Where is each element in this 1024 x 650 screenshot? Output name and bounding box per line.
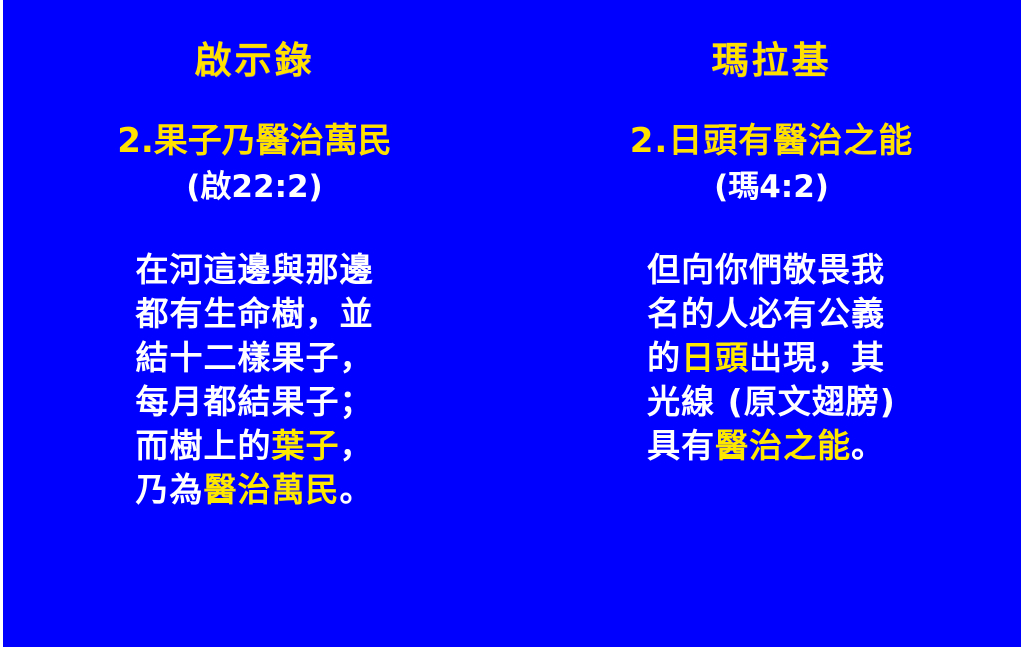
body-line: 乃為醫治萬民。 [136, 468, 374, 512]
body-text-run: 每月都結果子； [136, 382, 374, 421]
highlighted-phrase: 日頭 [681, 338, 749, 377]
body-line: 在河這邊與那邊 [136, 248, 374, 292]
two-column-layout: 啟示錄 2.果子乃醫治萬民 (啟22:2) 在河這邊與那邊都有生命樹，並結十二樣… [3, 0, 1021, 647]
scripture-reference-left: (啟22:2) [186, 170, 322, 204]
highlighted-phrase: 醫治之能 [715, 426, 851, 465]
highlighted-phrase: 葉子 [272, 426, 340, 465]
scripture-body-left: 在河這邊與那邊都有生命樹，並結十二樣果子，每月都結果子；而樹上的葉子，乃為醫治萬… [136, 248, 374, 512]
body-text-run: 出現，其 [749, 338, 885, 377]
scripture-body-right: 但向你們敬畏我名的人必有公義的日頭出現，其光線 (原文翅膀)具有醫治之能。 [647, 248, 896, 468]
point-heading-left: 2.果子乃醫治萬民 [117, 123, 392, 160]
body-line: 都有生命樹，並 [136, 292, 374, 336]
body-text-run: 但向你們敬畏我 [647, 250, 885, 289]
body-text-run: 乃為 [136, 470, 204, 509]
column-malachi: 瑪拉基 2.日頭有醫治之能 (瑪4:2) 但向你們敬畏我名的人必有公義的日頭出現… [512, 0, 1021, 468]
body-line: 具有醫治之能。 [647, 424, 885, 468]
point-heading-right: 2.日頭有醫治之能 [630, 123, 914, 160]
body-line: 而樹上的葉子， [136, 424, 374, 468]
body-text-run: 而樹上的 [136, 426, 272, 465]
body-text-run: 結十二樣果子， [136, 338, 374, 377]
body-text-run: 光線 (原文翅膀) [647, 382, 896, 421]
body-line: 光線 (原文翅膀) [647, 380, 896, 424]
body-line: 每月都結果子； [136, 380, 374, 424]
body-text-run: 具有 [647, 426, 715, 465]
body-text-run: 名的人必有公義 [647, 294, 885, 333]
scripture-reference-right: (瑪4:2) [714, 170, 829, 204]
body-line: 但向你們敬畏我 [647, 248, 885, 292]
highlighted-phrase: 醫治萬民 [204, 470, 340, 509]
body-text-run: 在河這邊與那邊 [136, 250, 374, 289]
body-text-run: 的 [647, 338, 681, 377]
slide-canvas: 啟示錄 2.果子乃醫治萬民 (啟22:2) 在河這邊與那邊都有生命樹，並結十二樣… [3, 0, 1021, 647]
body-line: 名的人必有公義 [647, 292, 885, 336]
body-text-run: 。 [851, 426, 885, 465]
book-title-left: 啟示錄 [195, 42, 315, 81]
body-text-run: 都有生命樹，並 [136, 294, 374, 333]
body-line: 結十二樣果子， [136, 336, 374, 380]
body-line: 的日頭出現，其 [647, 336, 885, 380]
book-title-right: 瑪拉基 [712, 42, 832, 81]
body-text-run: 。 [340, 470, 374, 509]
body-text-run: ， [340, 426, 374, 465]
column-revelation: 啟示錄 2.果子乃醫治萬民 (啟22:2) 在河這邊與那邊都有生命樹，並結十二樣… [3, 0, 512, 512]
